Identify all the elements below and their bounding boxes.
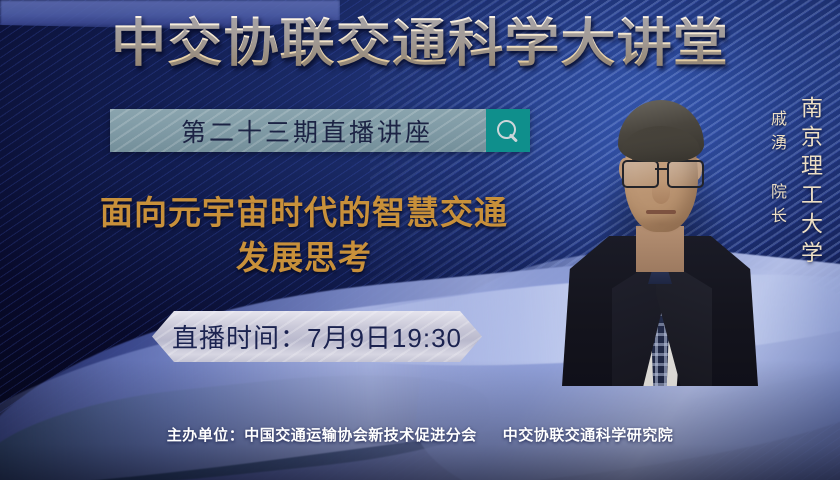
- speaker-organization: 南京理工大学: [794, 96, 826, 270]
- glasses-bridge: [655, 168, 667, 170]
- speaker-portrait: [560, 86, 760, 386]
- speaker-name-title: 戚湧 院长: [764, 110, 788, 231]
- glasses-lens-left: [622, 160, 659, 188]
- livestream-time-badge: 直播时间：7月9日19:30: [152, 311, 482, 362]
- footer-org-2: 中交协联交通科学研究院: [503, 427, 674, 444]
- portrait-chin-shadow: [634, 214, 688, 234]
- footer-label: 主办单位：: [167, 427, 245, 444]
- footer-organizers: 主办单位：中国交通运输协会新技术促进分会中交协联交通科学研究院: [0, 424, 840, 445]
- episode-bar-body: 第二十三期直播讲座: [110, 109, 486, 152]
- episode-bar: 第二十三期直播讲座: [110, 109, 530, 152]
- episode-label: 第二十三期直播讲座: [163, 113, 433, 149]
- lecture-topic: 面向元宇宙时代的智慧交通 发展思考: [44, 190, 564, 280]
- footer-org-1: 中国交通运输协会新技术促进分会: [244, 427, 477, 444]
- portrait-mouth: [646, 210, 676, 214]
- page-title: 中交协联交通科学大讲堂: [0, 14, 840, 74]
- livestream-time-text: 直播时间：7月9日19:30: [172, 318, 462, 355]
- glasses-lens-right: [667, 160, 704, 188]
- lecture-topic-line1: 面向元宇宙时代的智慧交通: [100, 194, 508, 231]
- lecture-topic-line2: 发展思考: [44, 235, 564, 280]
- search-icon: [497, 120, 519, 142]
- glasses-icon: [620, 160, 702, 186]
- search-button[interactable]: [486, 109, 530, 152]
- livestream-poster: 中交协联交通科学大讲堂 第二十三期直播讲座 面向元宇宙时代的智慧交通 发展思考 …: [0, 0, 840, 480]
